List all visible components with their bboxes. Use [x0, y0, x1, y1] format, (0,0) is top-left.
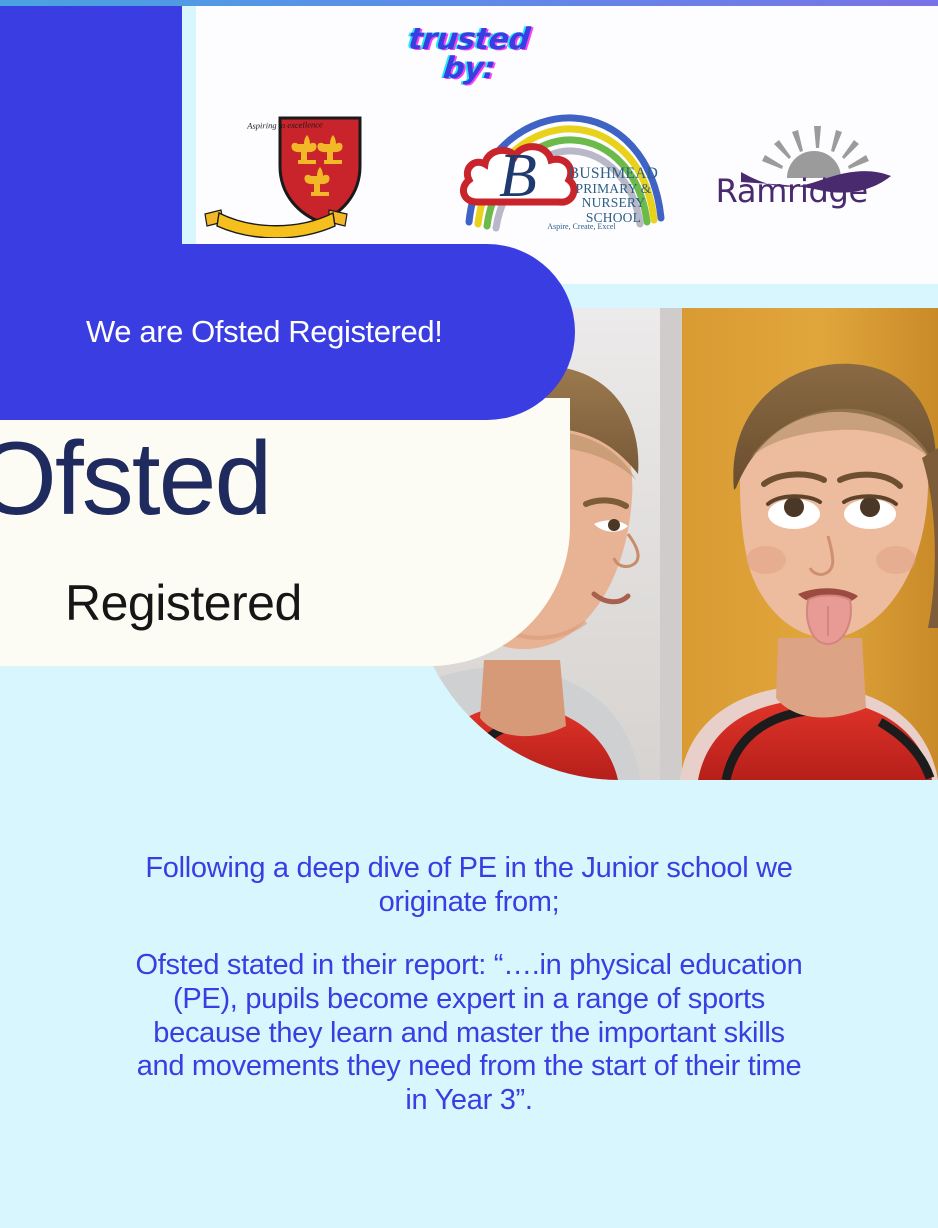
page-root: trusted by:: [0, 0, 938, 1228]
logo-item-ramridge: Ramridge: [707, 110, 922, 250]
trusted-by-badge: trusted by:: [0, 26, 938, 83]
logo-item-crest: Aspiring to excellence: [212, 110, 427, 250]
headline-banner: We are Ofsted Registered!: [0, 244, 575, 420]
bushmead-line-2: PRIMARY & NURSERY: [543, 182, 683, 210]
crest-banner-icon: [203, 208, 349, 238]
bushmead-tagline: Aspire, Create, Excel: [511, 222, 651, 231]
ofsted-yellow-arc-icon: [410, 398, 570, 666]
body-paragraph-2: Ofsted stated in their report: “….in phy…: [132, 949, 806, 1117]
headline-title: We are Ofsted Registered!: [86, 314, 442, 350]
body-paragraph-1: Following a deep dive of PE in the Junio…: [145, 852, 792, 918]
partner-logos-row: Aspiring to excellence B BUSHMEAD: [196, 110, 938, 250]
ramridge-icon: [729, 110, 899, 230]
bushmead-wordmark: BUSHMEAD PRIMARY & NURSERY SCHOOL: [543, 166, 683, 225]
top-gradient-strip: [0, 0, 938, 6]
crest-banner-label: Aspiring to excellence: [212, 109, 359, 142]
ofsted-registered-label: Registered: [65, 574, 302, 632]
svg-text:B: B: [499, 142, 537, 210]
ramridge-wordmark: Ramridge: [707, 172, 877, 210]
paragraph-spacer: [132, 919, 806, 949]
ofsted-wordmark: Ofsted: [0, 420, 270, 539]
trusted-by-line-2: by:: [0, 55, 938, 84]
bushmead-line-1: BUSHMEAD: [543, 166, 683, 182]
logo-item-bushmead: B BUSHMEAD PRIMARY & NURSERY SCHOOL Aspi…: [459, 110, 674, 250]
ofsted-registered-badge: Ofsted Registered: [0, 398, 570, 666]
body-copy: Following a deep dive of PE in the Junio…: [132, 852, 806, 1117]
